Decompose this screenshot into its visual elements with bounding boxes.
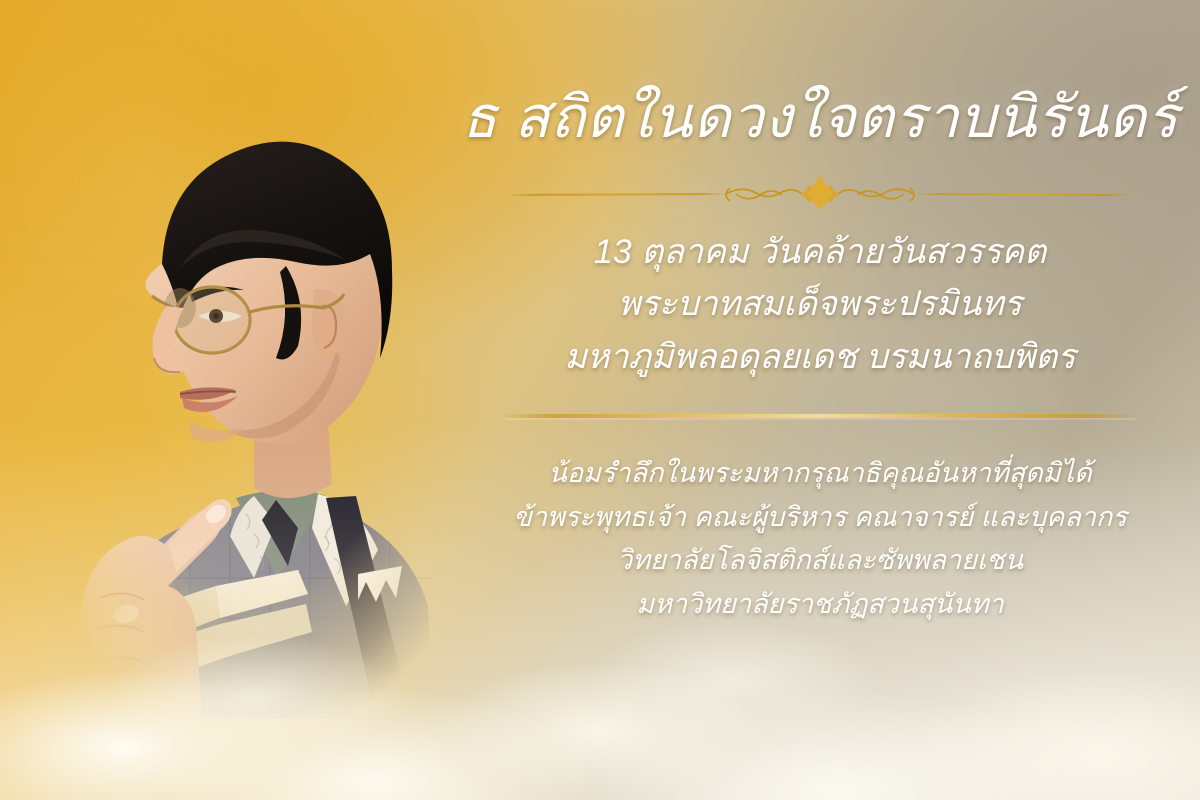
tribute-text: น้อมรำลึกในพระมหากรุณาธิคุณอันหาที่สุดมิ… bbox=[513, 452, 1127, 627]
diamond-flourish-divider-icon bbox=[504, 176, 1136, 210]
subtitle-line-3: มหาภูมิพลอดุลยเดช บรมนาถบพิตร bbox=[565, 331, 1076, 384]
tribute-line-2: ข้าพระพุทธเจ้า คณะผู้บริหาร คณาจารย์ และ… bbox=[513, 496, 1127, 540]
memorial-banner: ธ สถิตในดวงใจตราบนิรันดร์ bbox=[0, 0, 1200, 800]
king-portrait bbox=[40, 58, 470, 718]
gold-gradient-rule bbox=[504, 414, 1136, 418]
subtitle-line-2: พระบาทสมเด็จพระปรมินทร bbox=[565, 278, 1076, 331]
page-title: ธ สถิตในดวงใจตราบนิรันดร์ bbox=[462, 86, 1179, 150]
message-column: ธ สถิตในดวงใจตราบนิรันดร์ bbox=[470, 0, 1170, 800]
memorial-subtitle: 13 ตุลาคม วันคล้ายวันสวรรคต พระบาทสมเด็จ… bbox=[565, 226, 1076, 384]
organization-university: มหาวิทยาลัยราชภัฏสวนสุนันทา bbox=[513, 583, 1127, 627]
tribute-line-1: น้อมรำลึกในพระมหากรุณาธิคุณอันหาที่สุดมิ… bbox=[513, 452, 1127, 496]
subtitle-line-1: 13 ตุลาคม วันคล้ายวันสวรรคต bbox=[565, 226, 1076, 279]
organization-college: วิทยาลัยโลจิสติกส์และซัพพลายเชน bbox=[513, 539, 1127, 583]
